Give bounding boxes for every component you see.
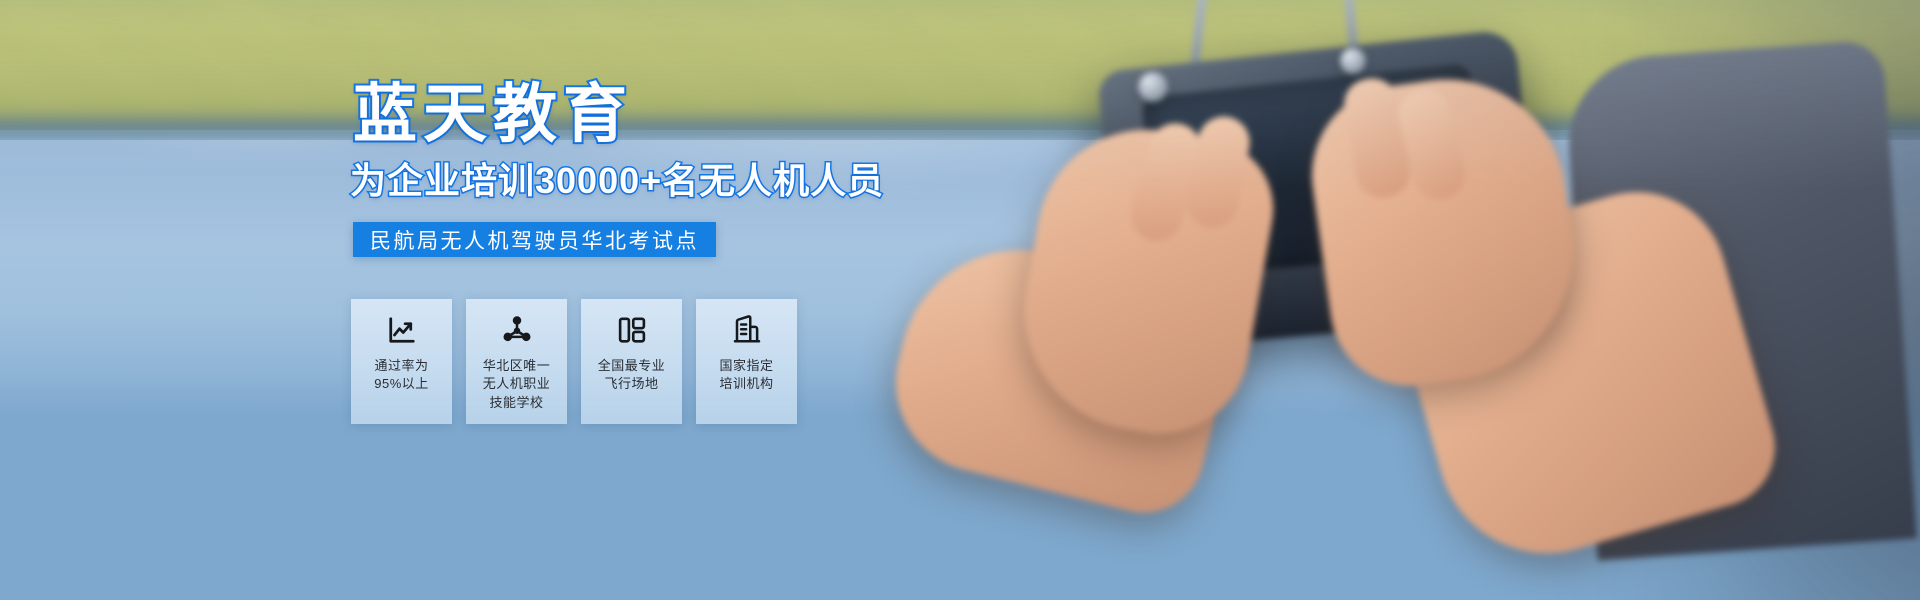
- page-title: 蓝天教育: [353, 82, 633, 146]
- feature-card-state-designated[interactable]: 国家指定 培训机构: [696, 299, 797, 424]
- network-nodes-icon: [500, 313, 534, 347]
- feature-card-list: 通过率为 95%以上 华北区唯一 无人机职业 技能学校: [351, 299, 797, 424]
- hero-banner: 蓝天教育 为企业培训30000+名无人机人员 民航局无人机驾驶员华北考试点 通过…: [0, 0, 1920, 600]
- feature-card-pass-rate[interactable]: 通过率为 95%以上: [351, 299, 452, 424]
- banner-content: 蓝天教育 为企业培训30000+名无人机人员 民航局无人机驾驶员华北考试点 通过…: [0, 0, 1920, 600]
- chart-trending-up-icon: [385, 313, 419, 347]
- page-subtitle: 为企业培训30000+名无人机人员: [350, 163, 884, 199]
- status-badge: 民航局无人机驾驶员华北考试点: [353, 222, 716, 257]
- feature-card-label: 全国最专业 飞行场地: [598, 357, 666, 394]
- feature-card-label: 华北区唯一 无人机职业 技能学校: [483, 357, 551, 412]
- feature-card-label: 通过率为 95%以上: [374, 357, 429, 394]
- feature-card-vocational-school[interactable]: 华北区唯一 无人机职业 技能学校: [466, 299, 567, 424]
- building-icon: [730, 313, 764, 347]
- feature-card-flight-field[interactable]: 全国最专业 飞行场地: [581, 299, 682, 424]
- layout-panels-icon: [615, 313, 649, 347]
- feature-card-label: 国家指定 培训机构: [719, 357, 773, 394]
